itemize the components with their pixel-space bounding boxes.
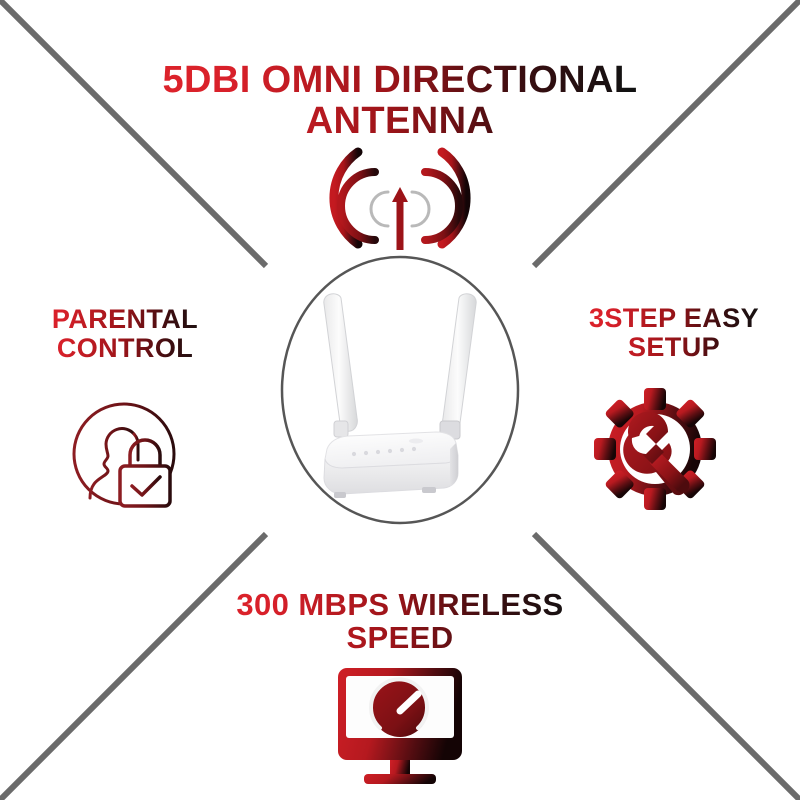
gear-wrench-icon [594,388,716,510]
router-photo [290,273,510,513]
feature-label-wireless-speed: 300 MBPS WIRELESS SPEED [170,588,630,654]
feature-setup-line-2: SETUP [558,333,790,362]
monitor-speedometer-icon [330,664,470,786]
feature-label-antenna: 5DBI OMNI DIRECTIONAL ANTENNA [100,60,700,141]
feature-speed-line-2: SPEED [170,621,630,654]
product-feature-infographic: 5DBI OMNI DIRECTIONAL ANTENNA [0,0,800,800]
monitor-stand-neck [390,760,410,776]
router-foot-left [334,492,346,498]
monitor-stand-base [364,774,436,784]
feature-label-parental-control: PARENTAL CONTROL [10,305,240,363]
feature-setup-line-1: 3STEP EASY [558,304,790,333]
parental-control-lock-icon [68,398,192,510]
feature-parental-line-2: CONTROL [10,334,240,363]
router-product-panel [280,255,520,525]
diagonal-line-bottom-right [534,534,800,800]
feature-speed-line-1: 300 MBPS WIRELESS [170,588,630,621]
router-body [324,432,458,498]
wifi-antenna-icon [322,140,478,250]
antenna-arc-inner-left [371,192,388,226]
router-antenna-right [443,294,477,431]
feature-antenna-line-2: ANTENNA [100,101,700,142]
router-antenna-left [324,294,358,431]
antenna-arc-inner-right [412,192,429,226]
parental-person-head-right [134,434,138,460]
parental-lock-body [120,466,170,506]
parental-lock-shackle [130,440,160,468]
antenna-mast [397,198,404,250]
diagonal-line-bottom-left [0,534,266,800]
router-brand-mark [409,439,423,444]
feature-parental-line-1: PARENTAL [10,305,240,334]
router-hinge-left [334,421,348,437]
feature-antenna-line-1: 5DBI OMNI DIRECTIONAL [100,60,700,101]
router-foot-right [422,487,436,493]
feature-label-easy-setup: 3STEP EASY SETUP [558,304,790,362]
